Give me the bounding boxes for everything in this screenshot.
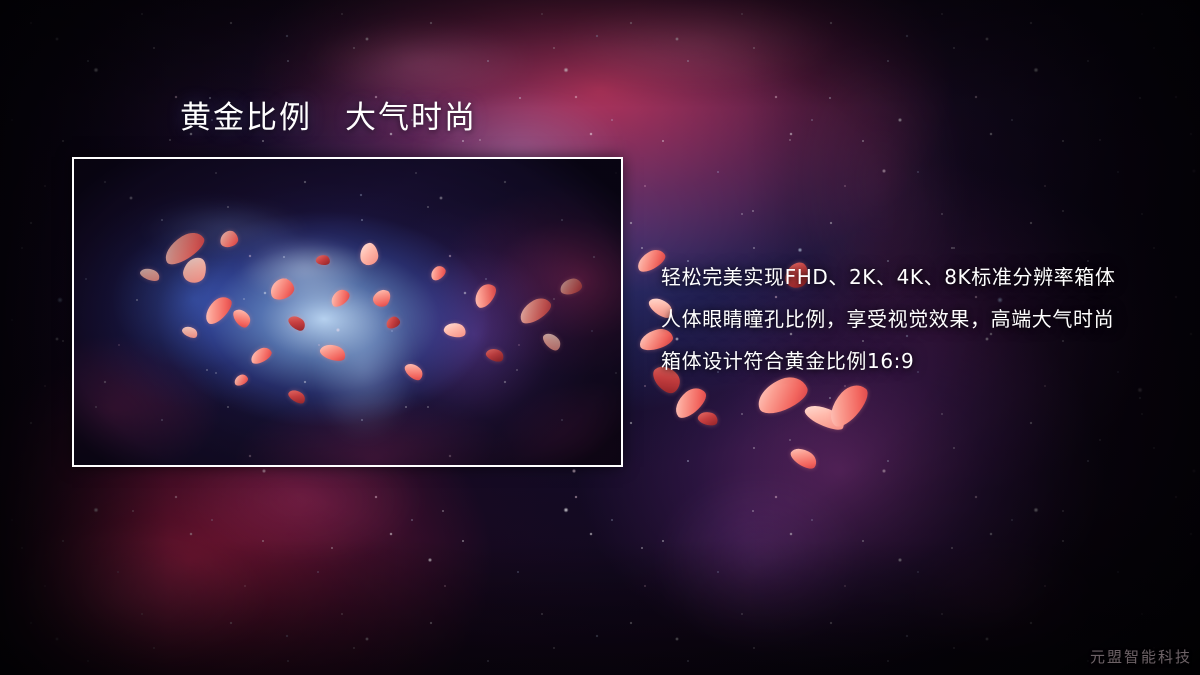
watermark: 元盟智能科技 xyxy=(1090,646,1192,667)
frame-vignette xyxy=(74,159,621,465)
picture-frame[interactable] xyxy=(72,157,623,467)
page-title: 黄金比例 大气时尚 xyxy=(180,101,477,136)
body-copy-line-3: 箱体设计符合黄金比例16:9 xyxy=(661,340,1161,382)
body-copy-block: 轻松完美实现FHD、2K、4K、8K标准分辨率箱体 人体眼睛瞳孔比例，享受视觉效… xyxy=(661,256,1161,382)
slide-canvas: 黄金比例 大气时尚 轻松完美实现FHD、2K、4K、8K标准分辨率箱体 人体眼睛… xyxy=(0,0,1200,675)
body-copy-line-1: 轻松完美实现FHD、2K、4K、8K标准分辨率箱体 xyxy=(661,256,1161,298)
picture-frame-content xyxy=(74,159,621,465)
body-copy-line-2: 人体眼睛瞳孔比例，享受视觉效果，高端大气时尚 xyxy=(661,298,1161,340)
